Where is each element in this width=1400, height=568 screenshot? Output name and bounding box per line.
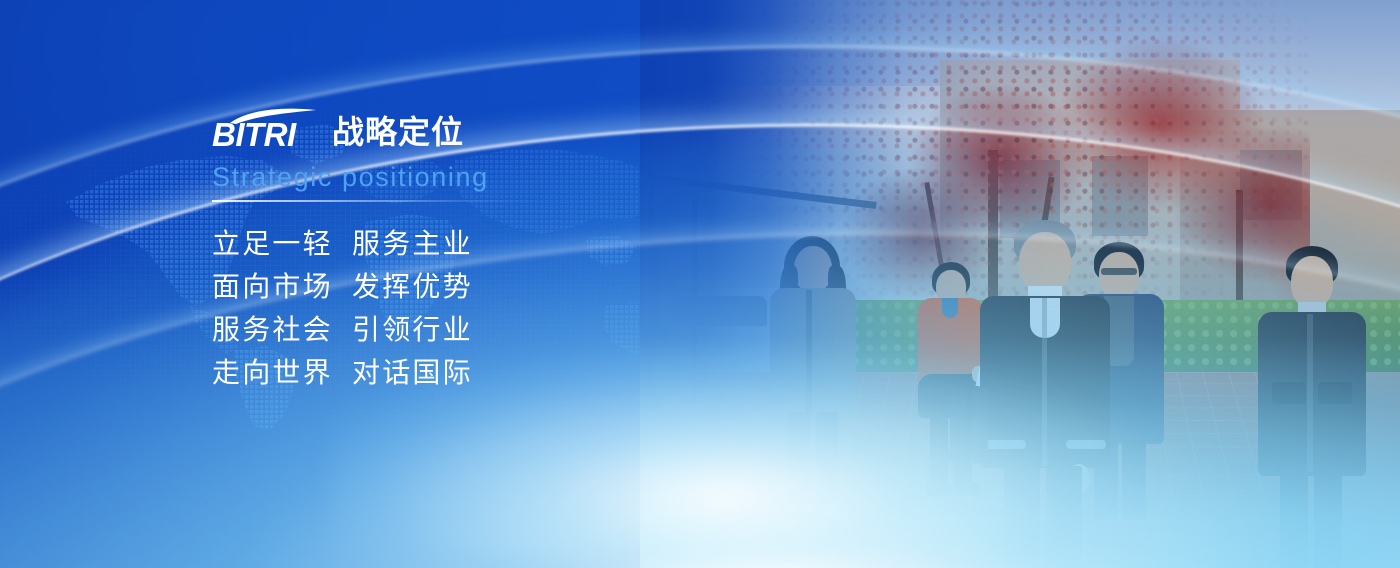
photo-bottom-fade: [640, 338, 1400, 568]
page-subtitle-en: Strategic positioning: [212, 161, 642, 193]
bitri-logo-text: BITRI: [212, 117, 296, 153]
slogan-list: 立足一轻 服务主业 面向市场 发挥优势 服务社会 引领行业 走向世界 对话国际: [212, 222, 642, 394]
bitri-logo: BITRI: [212, 108, 316, 152]
slogan-left: 走向世界: [212, 351, 352, 394]
slogan-right: 对话国际: [352, 351, 473, 394]
page-title-cn: 战略定位: [332, 114, 464, 150]
strategic-positioning-banner: BITRI 战略定位 Strategic positioning 立足一轻 服务…: [0, 0, 1400, 568]
banner-content: BITRI 战略定位 Strategic positioning 立足一轻 服务…: [212, 104, 642, 394]
slogan-line: 走向世界 对话国际: [212, 351, 642, 394]
slogan-left: 立足一轻: [212, 222, 352, 265]
slogan-line: 服务社会 引领行业: [212, 308, 642, 351]
team-photo: [640, 0, 1400, 568]
title-row: BITRI 战略定位: [212, 104, 642, 152]
slogan-right: 引领行业: [352, 308, 473, 351]
slogan-line: 立足一轻 服务主业: [212, 222, 642, 265]
slogan-left: 服务社会: [212, 308, 352, 351]
slogan-line: 面向市场 发挥优势: [212, 265, 642, 308]
slogan-right: 发挥优势: [352, 265, 473, 308]
slogan-left: 面向市场: [212, 265, 352, 308]
title-divider: [212, 200, 542, 202]
slogan-right: 服务主业: [352, 222, 473, 265]
